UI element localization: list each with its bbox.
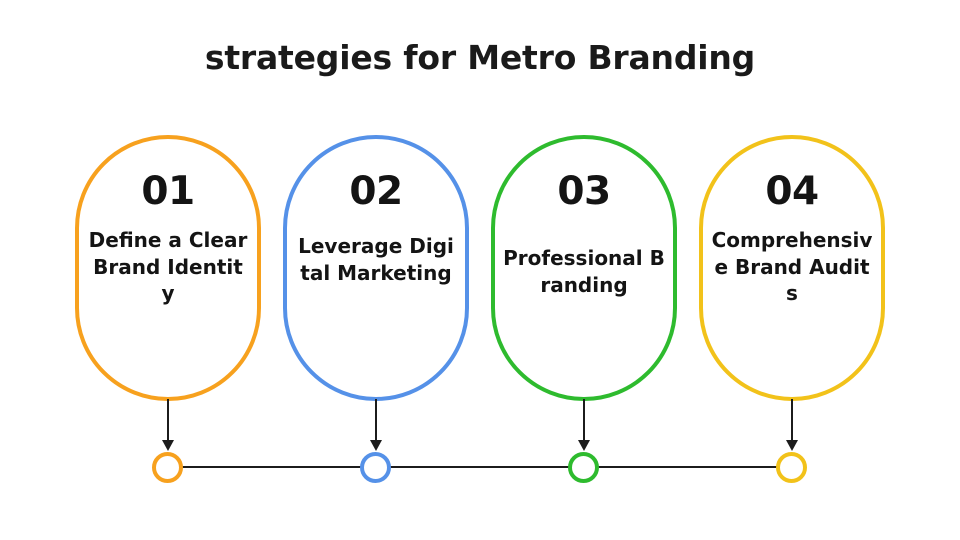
timeline-baseline <box>165 466 797 468</box>
connector-arrow-02 <box>370 399 382 459</box>
arrow-head-icon <box>370 440 382 451</box>
step-card-03[interactable]: 03 Professional Branding <box>491 135 677 401</box>
connector-arrow-01 <box>162 399 174 459</box>
timeline-node-03[interactable] <box>568 452 599 483</box>
step-number: 01 <box>141 172 194 211</box>
step-number: 04 <box>765 172 818 211</box>
arrow-stem <box>167 399 169 443</box>
step-label: Professional Branding <box>495 245 673 298</box>
timeline-node-02[interactable] <box>360 452 391 483</box>
step-card-04[interactable]: 04 Comprehensive Brand Audits <box>699 135 885 401</box>
step-number: 02 <box>349 172 402 211</box>
arrow-stem <box>791 399 793 443</box>
arrow-stem <box>375 399 377 443</box>
timeline-node-04[interactable] <box>776 452 807 483</box>
arrow-head-icon <box>786 440 798 451</box>
connector-arrow-03 <box>578 399 590 459</box>
page-title: strategies for Metro Branding <box>0 38 960 77</box>
step-card-01[interactable]: 01 Define a Clear Brand Identity <box>75 135 261 401</box>
arrow-head-icon <box>578 440 590 451</box>
step-label: Leverage Digital Marketing <box>287 233 465 286</box>
step-label: Define a Clear Brand Identity <box>79 227 257 307</box>
step-label: Comprehensive Brand Audits <box>703 227 881 307</box>
connector-arrow-04 <box>786 399 798 459</box>
arrow-head-icon <box>162 440 174 451</box>
timeline-node-01[interactable] <box>152 452 183 483</box>
arrow-stem <box>583 399 585 443</box>
step-card-02[interactable]: 02 Leverage Digital Marketing <box>283 135 469 401</box>
step-number: 03 <box>557 172 610 211</box>
infographic-canvas: strategies for Metro Branding 01 Define … <box>0 0 960 540</box>
